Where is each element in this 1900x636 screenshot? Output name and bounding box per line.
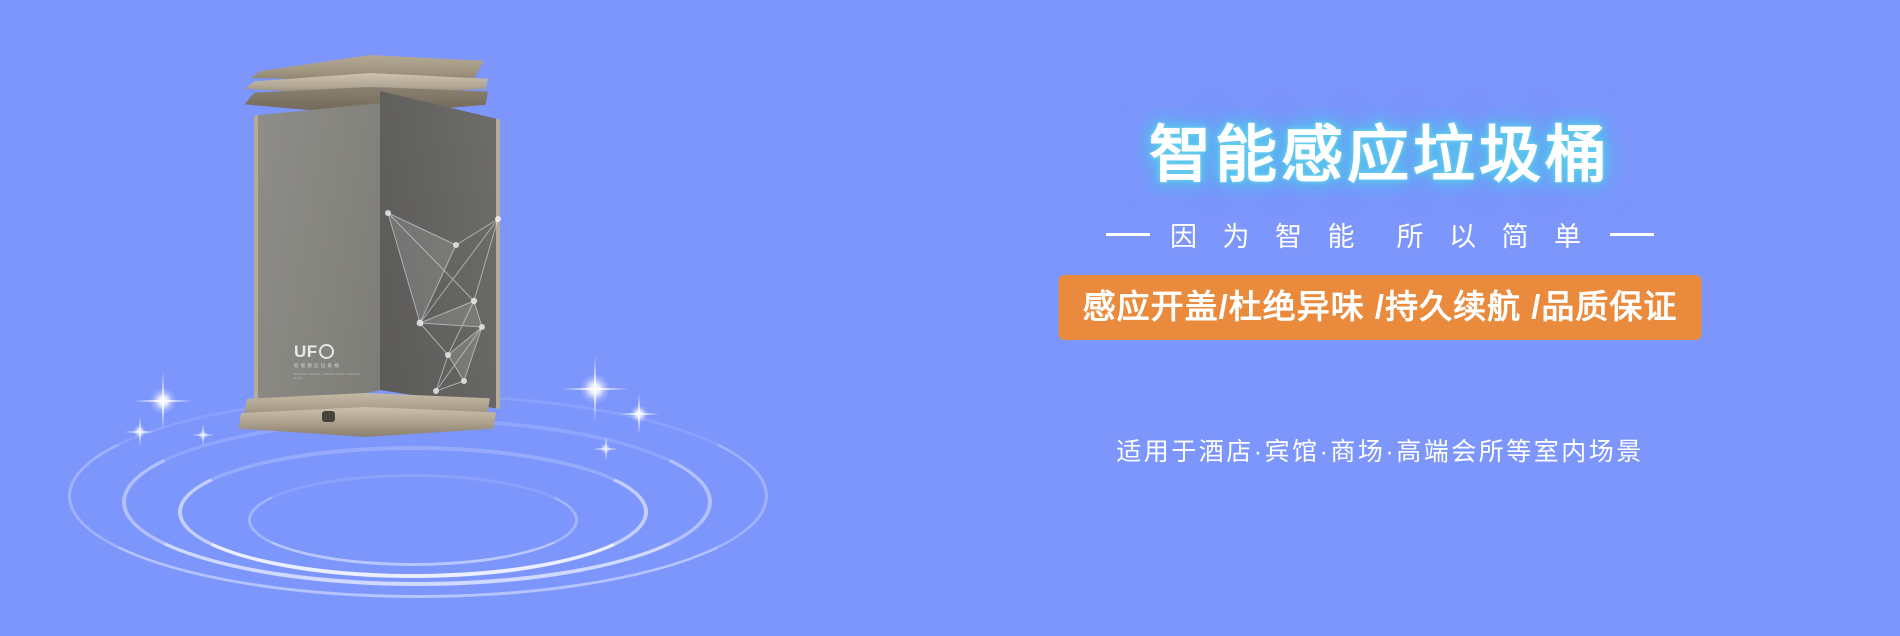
brand-mark-text: UF bbox=[294, 343, 318, 360]
brand-mark: UF bbox=[294, 343, 362, 360]
banner-title: 智能感应垃圾桶 bbox=[860, 125, 1900, 187]
banner-copy: 智能感应垃圾桶 因 为 智 能 所 以 简 单 感应开盖/杜绝异味 /持久续航 … bbox=[860, 0, 1900, 636]
usage-caption: 适用于酒店·宾馆·商场·高端会所等室内场景 bbox=[860, 432, 1900, 468]
smart-trash-can-image: UF 智能感应垃圾桶 INTELLIGENT INDUCTION TRASH C… bbox=[232, 55, 502, 435]
brand-circle-icon bbox=[319, 344, 334, 359]
feature-tagline-bar: 感应开盖/杜绝异味 /持久续航 /品质保证 bbox=[1059, 275, 1702, 340]
ripple-ring-core bbox=[248, 474, 578, 566]
sensor-icon bbox=[322, 411, 335, 422]
brand-name-cn: 智能感应垃圾桶 bbox=[294, 363, 362, 369]
brand-name-en: INTELLIGENT INDUCTION TRASH CAN bbox=[294, 372, 362, 380]
product-banner: UF 智能感应垃圾桶 INTELLIGENT INDUCTION TRASH C… bbox=[0, 0, 1900, 636]
subtitle-rule-right bbox=[1610, 233, 1654, 236]
product-brand-logo: UF 智能感应垃圾桶 INTELLIGENT INDUCTION TRASH C… bbox=[294, 343, 362, 389]
subtitle-rule-left bbox=[1106, 233, 1150, 236]
product-scene: UF 智能感应垃圾桶 INTELLIGENT INDUCTION TRASH C… bbox=[0, 0, 840, 636]
bin-base-lower bbox=[236, 407, 496, 437]
subtitle-text: 因 为 智 能 所 以 简 单 bbox=[1170, 215, 1590, 254]
banner-subtitle: 因 为 智 能 所 以 简 单 bbox=[860, 215, 1900, 254]
polygon-network-graphic bbox=[378, 205, 504, 405]
